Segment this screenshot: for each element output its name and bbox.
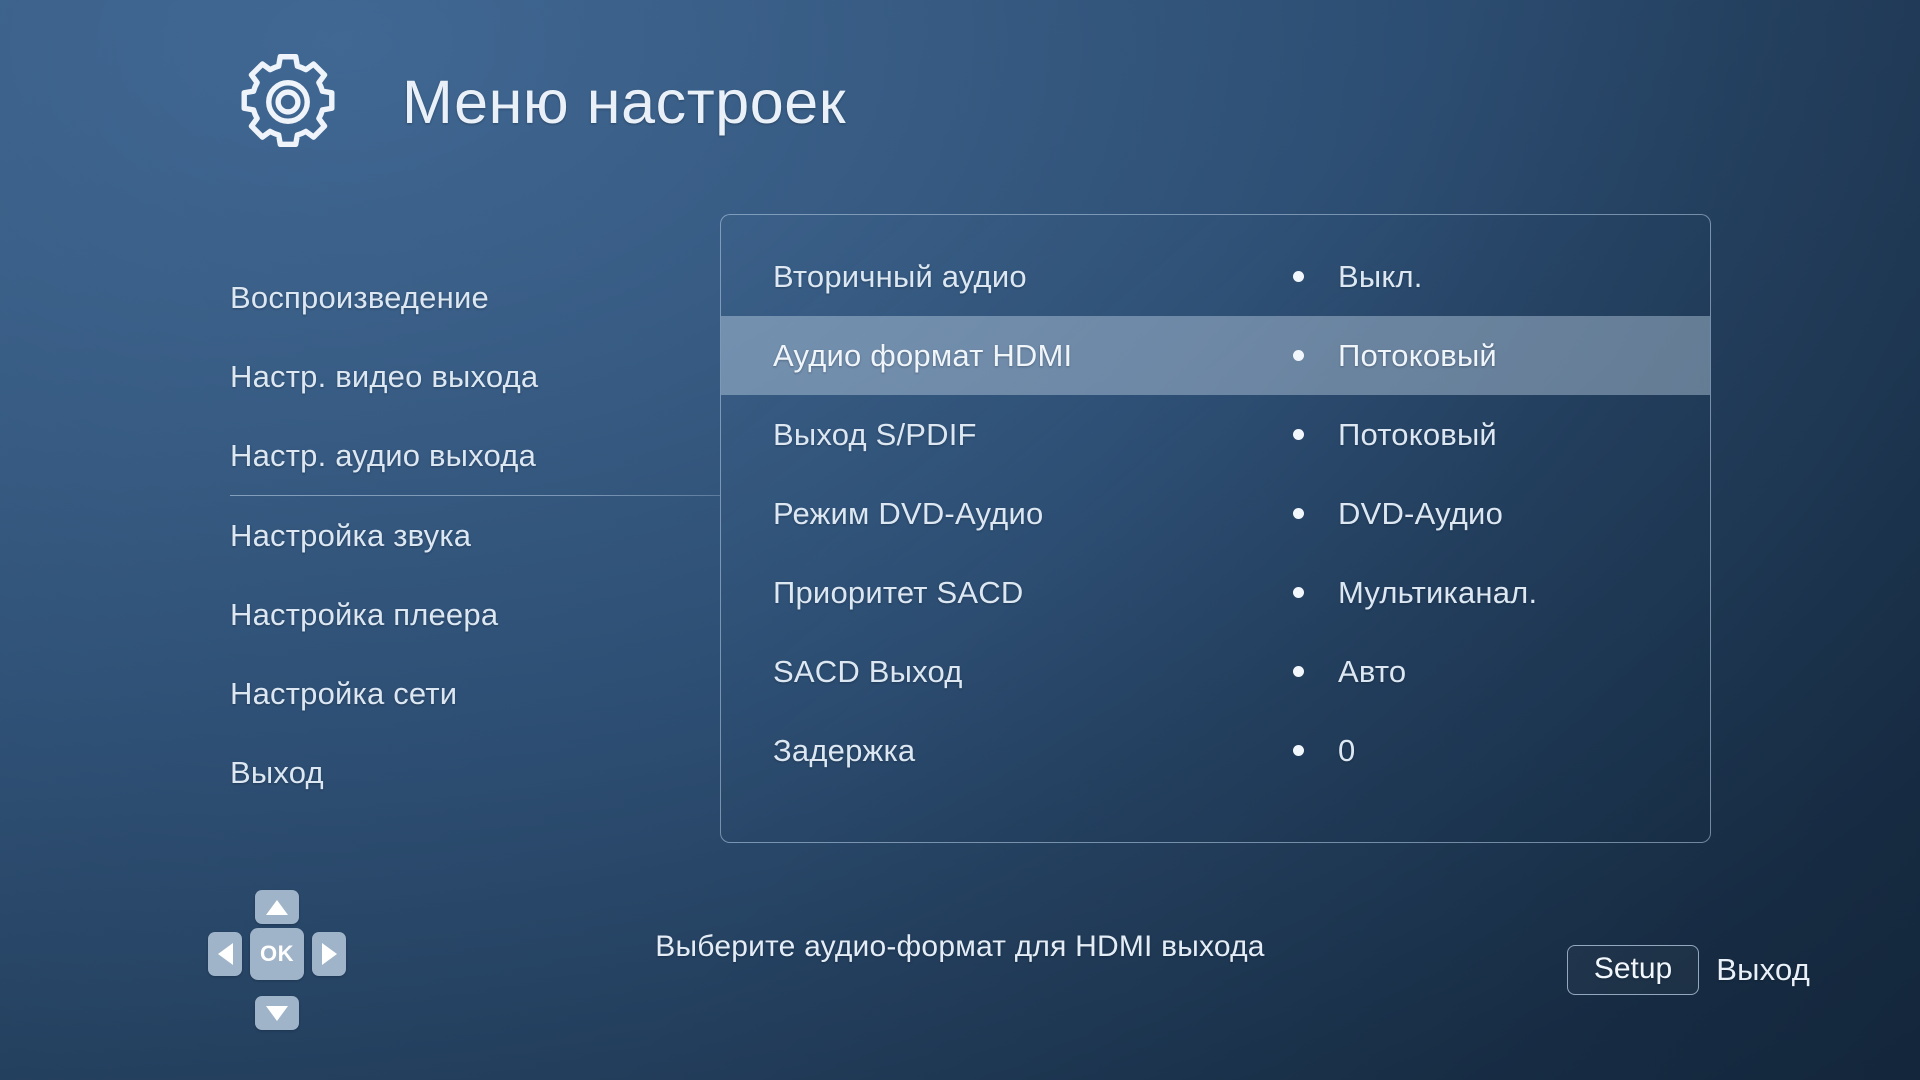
settings-row-spdif-output[interactable]: Выход S/PDIF Потоковый [721, 395, 1710, 474]
settings-row-label: Задержка [773, 733, 1293, 769]
dpad-ok-label: OK [260, 943, 294, 965]
sidebar-item-audio-output[interactable]: Настр. аудио выхода [230, 416, 720, 495]
bullet-icon [1293, 271, 1304, 282]
sidebar-item-label: Настр. аудио выхода [230, 438, 536, 474]
settings-row-value: 0 [1338, 733, 1355, 769]
sidebar-item-player-setup[interactable]: Настройка плеера [230, 575, 720, 654]
sidebar-item-playback[interactable]: Воспроизведение [230, 258, 720, 337]
bullet-icon [1293, 429, 1304, 440]
settings-row-label: Приоритет SACD [773, 575, 1293, 611]
sidebar-item-network-setup[interactable]: Настройка сети [230, 654, 720, 733]
sidebar: Воспроизведение Настр. видео выхода Наст… [230, 258, 720, 812]
right-arrow-icon [322, 943, 337, 965]
settings-row-sacd-output[interactable]: SACD Выход Авто [721, 632, 1710, 711]
left-arrow-icon [218, 943, 233, 965]
dpad-up-button[interactable] [255, 890, 299, 924]
sidebar-item-sound-setup[interactable]: Настройка звука [230, 496, 720, 575]
settings-panel: Вторичный аудио Выкл. Аудио формат HDMI … [720, 214, 1711, 843]
settings-row-value: DVD-Аудио [1338, 496, 1503, 532]
sidebar-item-label: Настройка плеера [230, 597, 498, 633]
settings-row-label: Выход S/PDIF [773, 417, 1293, 453]
exit-label: Выход [1716, 952, 1810, 988]
settings-row-value: Потоковый [1338, 338, 1497, 374]
settings-row-hdmi-audio-format[interactable]: Аудио формат HDMI Потоковый [721, 316, 1710, 395]
sidebar-item-label: Настройка звука [230, 518, 471, 554]
bullet-icon [1293, 350, 1304, 361]
settings-row-label: Режим DVD-Аудио [773, 496, 1293, 532]
sidebar-item-video-output[interactable]: Настр. видео выхода [230, 337, 720, 416]
bullet-icon [1293, 508, 1304, 519]
sidebar-item-exit[interactable]: Выход [230, 733, 720, 812]
up-arrow-icon [266, 900, 288, 915]
sidebar-item-label: Настройка сети [230, 676, 457, 712]
settings-row-value: Выкл. [1338, 259, 1423, 295]
dpad-ok-button[interactable]: OK [250, 928, 304, 980]
setup-button[interactable]: Setup [1567, 945, 1699, 995]
dpad-left-button[interactable] [208, 932, 242, 976]
bullet-icon [1293, 745, 1304, 756]
header: Меню настроек [236, 50, 846, 154]
settings-row-label: SACD Выход [773, 654, 1293, 690]
page-title: Меню настроек [402, 72, 846, 133]
settings-row-secondary-audio[interactable]: Вторичный аудио Выкл. [721, 237, 1710, 316]
sidebar-item-label: Выход [230, 755, 324, 791]
settings-row-value: Мультиканал. [1338, 575, 1537, 611]
dpad-down-button[interactable] [255, 996, 299, 1030]
dpad-right-button[interactable] [312, 932, 346, 976]
gear-icon [236, 50, 340, 154]
settings-row-value: Авто [1338, 654, 1406, 690]
settings-row-delay[interactable]: Задержка 0 [721, 711, 1710, 790]
sidebar-item-label: Настр. видео выхода [230, 359, 538, 395]
settings-row-label: Вторичный аудио [773, 259, 1293, 295]
dpad-control: OK [208, 890, 348, 1030]
down-arrow-icon [266, 1006, 288, 1021]
settings-rows: Вторичный аудио Выкл. Аудио формат HDMI … [721, 237, 1710, 790]
settings-row-label: Аудио формат HDMI [773, 338, 1293, 374]
bullet-icon [1293, 666, 1304, 677]
sidebar-item-label: Воспроизведение [230, 280, 489, 316]
settings-row-value: Потоковый [1338, 417, 1497, 453]
bullet-icon [1293, 587, 1304, 598]
settings-row-dvd-audio-mode[interactable]: Режим DVD-Аудио DVD-Аудио [721, 474, 1710, 553]
settings-row-sacd-priority[interactable]: Приоритет SACD Мультиканал. [721, 553, 1710, 632]
footer-right: Setup Выход [1567, 945, 1810, 995]
settings-menu-screen: Меню настроек Воспроизведение Настр. вид… [0, 0, 1920, 1080]
